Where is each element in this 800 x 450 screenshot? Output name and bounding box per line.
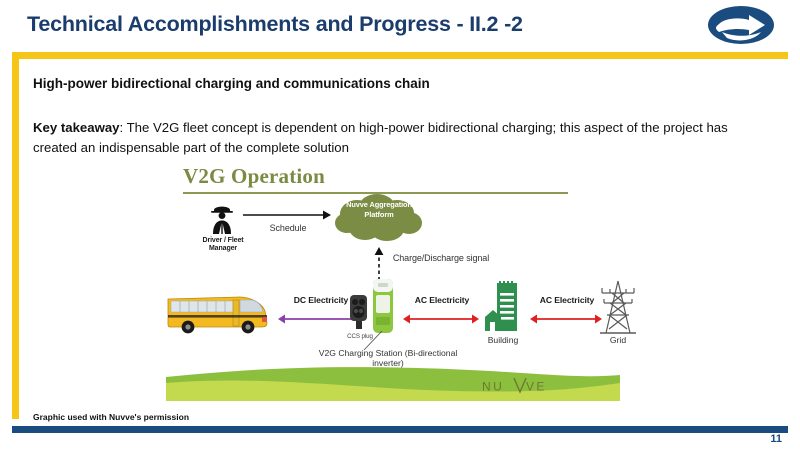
footer-bar-blue	[12, 426, 788, 433]
electricity-grid-tower-icon	[598, 279, 638, 335]
key-takeaway-label: Key takeaway	[33, 120, 120, 135]
schedule-arrow-icon	[243, 208, 331, 220]
diagram-heading: V2G Operation	[183, 164, 325, 189]
title-divider-gold	[12, 52, 788, 59]
ccs-plug-icon	[346, 287, 372, 331]
page-number: 11	[770, 433, 782, 445]
key-takeaway-text: : The V2G fleet concept is dependent on …	[33, 120, 728, 155]
v2g-operation-diagram: V2G Operation Driver / Fleet Manager Sch…	[158, 163, 628, 411]
left-accent-bar-gold	[12, 52, 19, 419]
page-title: Technical Accomplishments and Progress -…	[27, 12, 667, 37]
slide: Technical Accomplishments and Progress -…	[0, 0, 800, 450]
nuvve-wordmark-icon: NU VE	[476, 378, 596, 394]
schedule-flow-label: Schedule	[253, 223, 323, 233]
ac-electricity-label-1: AC Electricity	[398, 295, 486, 305]
v2g-charging-station-icon	[370, 279, 396, 333]
key-takeaway-paragraph: Key takeaway: The V2G fleet concept is d…	[33, 118, 763, 158]
driver-fleet-manager-label: Driver / Fleet Manager	[188, 237, 258, 254]
building-label: Building	[474, 335, 532, 345]
driver-fleet-manager-icon	[205, 201, 239, 235]
svg-text:NU: NU	[482, 380, 504, 394]
graphic-credit-note: Graphic used with Nuvve's permission	[33, 412, 189, 422]
organization-logo-icon	[705, 4, 777, 46]
school-bus-icon	[166, 291, 274, 335]
section-headline: High-power bidirectional charging and co…	[33, 76, 430, 91]
charge-discharge-signal-label: Charge/Discharge signal	[382, 253, 500, 263]
svg-text:VE: VE	[526, 380, 547, 394]
ac-electricity-arrow-2-icon	[530, 311, 602, 321]
building-icon	[483, 281, 523, 333]
cloud-label: Nuvve Aggregation Platform	[333, 200, 425, 220]
ac-electricity-arrow-1-icon	[403, 311, 479, 321]
grid-label: Grid	[590, 335, 646, 345]
